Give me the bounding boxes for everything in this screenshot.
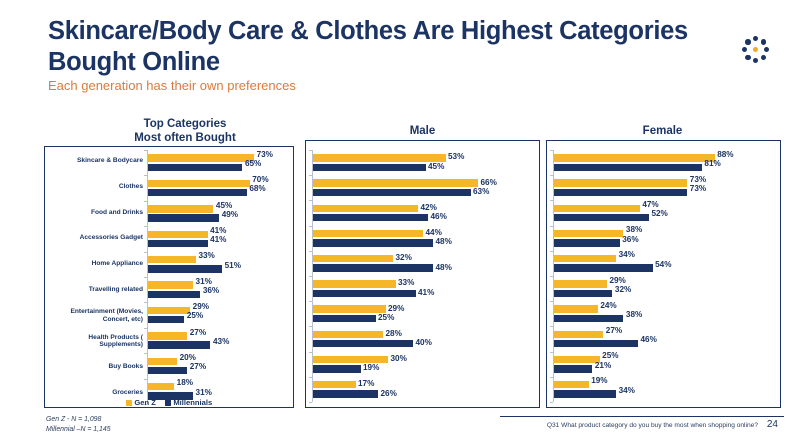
axis-tick [309, 352, 312, 353]
bar-millennials [148, 265, 222, 273]
bar-millennials [313, 340, 413, 348]
bar-group: 88%81% [554, 150, 775, 175]
bar-millennials [148, 240, 208, 248]
bar-value-label: 52% [651, 210, 660, 218]
bar-value-label: 28% [386, 330, 402, 338]
bar-value-label: 47% [642, 201, 651, 209]
category-label-line: Skincare & Bodycare [44, 157, 143, 165]
legend-label-millennials: Millennials [173, 398, 212, 407]
bar-value-label: 70% [252, 176, 261, 184]
bar-genz [313, 205, 418, 213]
axis-tick [550, 301, 553, 302]
category-label: Health Products (Supplements) [44, 329, 147, 355]
bar-millennials [148, 189, 247, 197]
bar-millennials [554, 189, 687, 197]
bar-value-label: 41% [210, 236, 219, 244]
bar-group: 33%51% [148, 252, 290, 277]
axis-tick [309, 276, 312, 277]
bar-millennials [554, 290, 612, 298]
bar-group: 45%49% [148, 201, 290, 226]
legend-swatch-genz [126, 400, 132, 406]
bar-value-label: 26% [381, 390, 397, 398]
bar-genz [313, 280, 396, 288]
bar-millennials [148, 341, 210, 349]
bar-genz [148, 256, 196, 264]
dot-flower-icon [738, 32, 774, 68]
legend-item-millennials: Millennials [165, 398, 212, 407]
bar-group: 27%43% [148, 328, 290, 353]
bar-group: 17%26% [313, 377, 534, 402]
bar-genz [148, 180, 250, 188]
bar-millennials [554, 239, 620, 247]
axis-tick [550, 175, 553, 176]
bar-genz [313, 305, 386, 313]
bar-genz [313, 381, 356, 389]
bar-value-label: 66% [481, 179, 497, 187]
bar-millennials [554, 164, 702, 172]
bar-value-label: 30% [391, 355, 407, 363]
bar-value-label: 29% [609, 277, 618, 285]
bar-value-label: 65% [245, 160, 254, 168]
axis-tick [550, 402, 553, 403]
bar-value-label: 32% [615, 286, 624, 294]
axis-tick [309, 402, 312, 403]
dot-flower-petal [761, 39, 766, 44]
axis-tick [309, 226, 312, 227]
bar-group: 29%25% [313, 301, 534, 326]
dot-flower-petal [761, 55, 766, 60]
bar-millennials [313, 214, 428, 222]
bar-millennials [148, 164, 242, 172]
bar-value-label: 36% [622, 236, 631, 244]
category-label-line: Concert, etc) [44, 316, 143, 324]
axis-tick [550, 352, 553, 353]
axis-tick [550, 226, 553, 227]
axis-tick [309, 150, 312, 151]
bar-chart-top-categories: 73%65%70%68%45%49%41%41%33%51%31%36%29%2… [147, 150, 290, 404]
category-label-line: Accessories Gadget [44, 234, 143, 242]
category-label-line: Buy Books [44, 363, 143, 371]
category-label-line: Travelling related [44, 286, 143, 294]
sample-size-note: Gen Z - N = 1,098 Millennial –N = 1,145 [46, 415, 111, 435]
bar-millennials [313, 315, 376, 323]
bar-value-label: 48% [436, 238, 452, 246]
panel-title-female: Female [580, 124, 745, 138]
dot-flower-petal [753, 36, 758, 41]
bar-millennials [313, 239, 433, 247]
bar-value-label: 54% [655, 261, 664, 269]
bar-group: 44%48% [313, 226, 534, 251]
bar-value-label: 31% [196, 389, 205, 397]
bar-millennials [148, 291, 200, 299]
bar-value-label: 24% [600, 302, 609, 310]
bar-genz [148, 332, 187, 340]
bar-genz [554, 356, 600, 364]
page-number: 24 [767, 419, 778, 430]
legend-swatch-millennials [165, 400, 171, 406]
legend-item-genz: Gen Z [126, 398, 156, 407]
axis-tick [144, 277, 147, 278]
bar-group: 38%36% [554, 226, 775, 251]
bar-value-label: 33% [198, 252, 207, 260]
bar-group: 34%54% [554, 251, 775, 276]
axis-tick [309, 326, 312, 327]
axis-tick [144, 379, 147, 380]
bar-genz [313, 154, 446, 162]
dot-flower-petal [753, 58, 758, 63]
bar-value-label: 63% [473, 188, 489, 196]
bar-genz [554, 205, 640, 213]
dot-flower-petal [745, 39, 750, 44]
bar-genz [148, 358, 177, 366]
category-label-line: Home Appliance [44, 260, 143, 268]
panel-title-line: Top Categories [110, 117, 260, 131]
axis-tick [144, 175, 147, 176]
axis-tick [144, 226, 147, 227]
bar-value-label: 36% [203, 287, 212, 295]
bar-genz [148, 307, 190, 315]
bar-group: 41%41% [148, 226, 290, 251]
bar-value-label: 34% [619, 387, 628, 395]
bar-genz [554, 179, 687, 187]
category-label: Buy Books [44, 354, 147, 380]
bar-group: 32%48% [313, 251, 534, 276]
bar-value-label: 27% [190, 363, 199, 371]
bar-value-label: 73% [690, 185, 699, 193]
bar-group: 70%68% [148, 175, 290, 200]
axis-tick [550, 276, 553, 277]
bar-value-label: 19% [363, 364, 379, 372]
bar-value-label: 34% [619, 251, 628, 259]
survey-question-footnote: Q31 What product category do you buy the… [547, 422, 758, 429]
bar-genz [148, 205, 213, 213]
axis-tick [144, 150, 147, 151]
bar-genz [313, 356, 388, 364]
bar-value-label: 49% [222, 211, 231, 219]
bar-value-label: 32% [396, 254, 412, 262]
bar-millennials [554, 340, 638, 348]
category-label: Home Appliance [44, 251, 147, 277]
legend-label-genz: Gen Z [134, 398, 156, 407]
category-label: Clothes [44, 174, 147, 200]
bar-value-label: 27% [606, 327, 615, 335]
bar-group: 29%32% [554, 276, 775, 301]
bar-value-label: 20% [180, 354, 189, 362]
slide-root: Skincare/Body Care & Clothes Are Highest… [0, 0, 800, 444]
axis-tick [309, 251, 312, 252]
bar-group: 33%41% [313, 276, 534, 301]
axis-tick [550, 200, 553, 201]
bar-genz [554, 230, 623, 238]
bar-group: 42%46% [313, 200, 534, 225]
bar-genz [148, 383, 174, 391]
bar-millennials [313, 164, 426, 172]
bar-value-label: 29% [388, 305, 404, 313]
bar-genz [554, 331, 603, 339]
category-label: Skincare & Bodycare [44, 148, 147, 174]
bar-genz [554, 305, 598, 313]
bar-group: 73%65% [148, 150, 290, 175]
panel-title-male: Male [340, 124, 505, 138]
bar-value-label: 68% [249, 185, 258, 193]
bar-millennials [148, 367, 187, 375]
dot-flower-center [753, 47, 758, 52]
chart-legend: Gen Z Millennials [44, 398, 294, 407]
bar-chart-female: 88%81%73%73%47%52%38%36%34%54%29%32%24%3… [553, 150, 775, 402]
bar-genz [313, 179, 478, 187]
bar-group: 53%45% [313, 150, 534, 175]
bar-millennials [313, 290, 416, 298]
bar-value-label: 51% [225, 262, 234, 270]
bar-value-label: 81% [704, 160, 713, 168]
bar-value-label: 19% [591, 377, 600, 385]
axis-tick [550, 150, 553, 151]
category-label-line: Groceries [44, 389, 143, 397]
footer-rule [500, 416, 784, 417]
axis-tick [309, 377, 312, 378]
category-label: Food and Drinks [44, 200, 147, 226]
bar-genz [554, 280, 607, 288]
bar-millennials [554, 264, 653, 272]
category-label-line: Supplements) [44, 341, 143, 349]
bar-group: 29%25% [148, 302, 290, 327]
category-label: Travelling related [44, 277, 147, 303]
bar-group: 31%36% [148, 277, 290, 302]
bar-millennials [313, 264, 433, 272]
bar-value-label: 73% [690, 176, 699, 184]
axis-tick [550, 251, 553, 252]
bar-value-label: 73% [257, 151, 266, 159]
bar-genz [148, 231, 208, 239]
bar-genz [148, 281, 193, 289]
bar-genz [554, 255, 616, 263]
bar-value-label: 41% [418, 289, 434, 297]
dot-flower-petal [742, 47, 747, 52]
bar-value-label: 45% [428, 163, 444, 171]
bar-genz [554, 381, 589, 389]
bar-value-label: 18% [177, 379, 186, 387]
bar-value-label: 45% [216, 202, 225, 210]
bar-value-label: 31% [196, 278, 205, 286]
bar-millennials [554, 365, 592, 373]
axis-tick [309, 301, 312, 302]
bar-group: 25%21% [554, 352, 775, 377]
bar-group: 27%46% [554, 326, 775, 351]
axis-tick [550, 377, 553, 378]
page-title: Skincare/Body Care & Clothes Are Highest… [48, 16, 718, 78]
bar-millennials [313, 365, 361, 373]
category-label-line: Health Products ( [44, 334, 143, 342]
bar-millennials [554, 390, 616, 398]
category-label-line: Food and Drinks [44, 209, 143, 217]
bar-millennials [148, 316, 184, 324]
axis-tick [550, 326, 553, 327]
bar-group: 30%19% [313, 352, 534, 377]
panel-title-line: Most often Bought [110, 131, 260, 145]
bar-value-label: 25% [187, 312, 196, 320]
bar-genz [313, 331, 383, 339]
bar-genz [313, 230, 423, 238]
bar-group: 73%73% [554, 175, 775, 200]
category-label-line: Entertainment (Movies, [44, 308, 143, 316]
bar-chart-male: 53%45%66%63%42%46%44%48%32%48%33%41%29%2… [312, 150, 534, 402]
bar-value-label: 38% [626, 311, 635, 319]
axis-tick [309, 200, 312, 201]
bar-value-label: 21% [595, 362, 604, 370]
bar-value-label: 42% [421, 204, 437, 212]
bar-millennials [313, 189, 471, 197]
bar-value-label: 27% [190, 329, 199, 337]
bar-millennials [554, 315, 623, 323]
note-genz: Gen Z - N = 1,098 [46, 415, 111, 425]
bar-group: 20%27% [148, 353, 290, 378]
bar-millennials [313, 390, 378, 398]
axis-tick [144, 201, 147, 202]
bar-value-label: 40% [416, 339, 432, 347]
panel-title-top-categories: Top CategoriesMost often Bought [110, 117, 260, 146]
bar-group: 66%63% [313, 175, 534, 200]
bar-value-label: 41% [210, 227, 219, 235]
category-label: Entertainment (Movies,Concert, etc) [44, 303, 147, 329]
axis-tick [144, 328, 147, 329]
note-millennial: Millennial –N = 1,145 [46, 425, 111, 435]
axis-tick [144, 252, 147, 253]
bar-value-label: 17% [358, 380, 374, 388]
category-label: Accessories Gadget [44, 225, 147, 251]
page-subtitle: Each generation has their own preference… [48, 78, 296, 93]
axis-tick [144, 302, 147, 303]
bar-value-label: 38% [626, 226, 635, 234]
bar-value-label: 88% [717, 151, 726, 159]
bar-genz [554, 154, 715, 162]
bar-millennials [554, 214, 649, 222]
bar-group: 47%52% [554, 200, 775, 225]
bar-value-label: 46% [431, 213, 447, 221]
bar-value-label: 53% [448, 153, 464, 161]
bar-value-label: 25% [602, 352, 611, 360]
dot-flower-petal [745, 55, 750, 60]
bar-group: 24%38% [554, 301, 775, 326]
bar-value-label: 33% [398, 279, 414, 287]
bar-value-label: 43% [213, 338, 222, 346]
bar-group: 19%34% [554, 377, 775, 402]
bar-value-label: 48% [436, 264, 452, 272]
bar-value-label: 29% [193, 303, 202, 311]
axis-tick [144, 353, 147, 354]
bar-value-label: 25% [378, 314, 394, 322]
bar-genz [313, 255, 393, 263]
dot-flower-petal [764, 47, 769, 52]
bar-value-label: 44% [426, 229, 442, 237]
axis-tick [309, 175, 312, 176]
category-label-line: Clothes [44, 183, 143, 191]
category-axis-labels: Skincare & BodycareClothesFood and Drink… [44, 148, 147, 406]
bar-genz [148, 154, 254, 162]
bar-group: 28%40% [313, 326, 534, 351]
bar-millennials [148, 214, 219, 222]
bar-value-label: 46% [641, 336, 650, 344]
